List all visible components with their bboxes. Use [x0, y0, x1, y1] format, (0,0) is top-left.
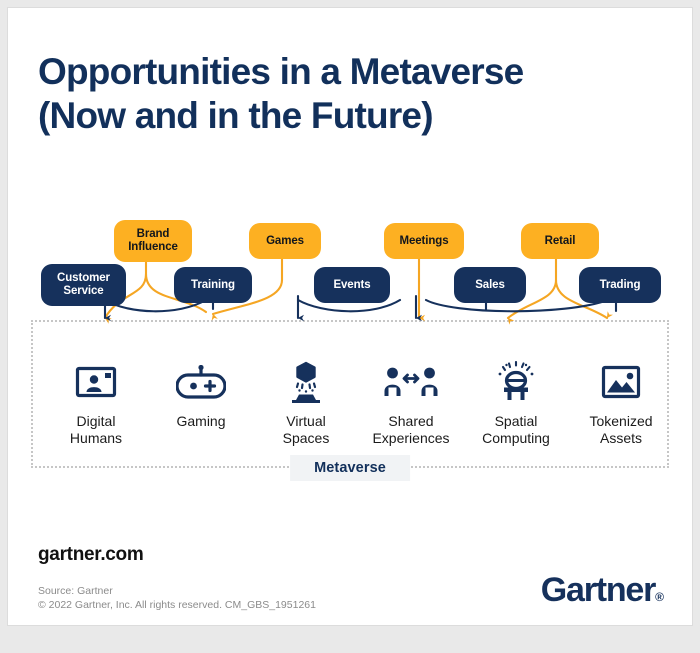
pill-customer-service-line2: Service	[63, 285, 103, 297]
pill-meetings[interactable]: Meetings	[384, 223, 464, 259]
pill-games-label: Games	[266, 235, 304, 248]
pill-meetings-label: Meetings	[399, 235, 448, 248]
pill-events-label: Events	[333, 279, 370, 292]
pillar-shared-experiences-line1: Shared	[388, 413, 433, 429]
pill-brand-influence-line2: Influence	[128, 241, 178, 253]
pill-sales-label: Sales	[475, 279, 505, 292]
pillar-gaming-line1: Gaming	[176, 413, 225, 429]
pill-customer-service-line1: Customer	[57, 272, 110, 284]
pill-sales[interactable]: Sales	[454, 267, 526, 303]
pillar-spatial-computing-line2: Computing	[482, 430, 550, 446]
pillar-spatial-computing-line1: Spatial	[495, 413, 538, 429]
pillar-digital-humans[interactable]: Digital Humans	[41, 360, 151, 447]
page-title: Opportunities in a Metaverse (Now and in…	[38, 50, 678, 138]
pill-customer-service[interactable]: Customer Service	[41, 264, 126, 306]
copyright-line: © 2022 Gartner, Inc. All rights reserved…	[38, 598, 316, 612]
pill-brand-influence-line1: Brand	[137, 228, 170, 240]
metaverse-label: Metaverse	[290, 455, 410, 481]
infographic-card: Opportunities in a Metaverse (Now and in…	[8, 8, 692, 625]
pillar-tokenized-assets-line1: Tokenized	[589, 413, 652, 429]
pillar-spatial-computing[interactable]: Spatial Computing	[461, 360, 571, 447]
pill-events[interactable]: Events	[314, 267, 390, 303]
pillar-virtual-spaces-line2: Spaces	[283, 430, 330, 446]
pillar-digital-humans-line2: Humans	[70, 430, 122, 446]
pill-games[interactable]: Games	[249, 223, 321, 259]
title-line-2: (Now and in the Future)	[38, 94, 678, 138]
pillar-gaming[interactable]: Gaming	[146, 360, 256, 430]
pillar-tokenized-assets-line2: Assets	[600, 430, 642, 446]
pill-training-label: Training	[191, 279, 235, 292]
pill-trading-label: Trading	[600, 279, 641, 292]
registered-trademark-icon: ®	[655, 590, 664, 604]
pillar-tokenized-assets[interactable]: Tokenized Assets	[566, 360, 676, 447]
source-attribution: Source: Gartner © 2022 Gartner, Inc. All…	[38, 584, 316, 612]
pillar-shared-experiences-line2: Experiences	[372, 430, 449, 446]
digital-humans-icon	[41, 360, 151, 404]
gartner-logo-text: Gartner	[541, 571, 655, 609]
gartner-site-link[interactable]: gartner.com	[38, 544, 143, 566]
pill-retail-label: Retail	[545, 235, 576, 248]
image-frame-icon	[566, 360, 676, 404]
pill-training[interactable]: Training	[174, 267, 252, 303]
title-line-1: Opportunities in a Metaverse	[38, 50, 678, 94]
pill-brand-influence[interactable]: Brand Influence	[114, 220, 192, 262]
pillar-shared-experiences[interactable]: Shared Experiences	[356, 360, 466, 447]
source-line: Source: Gartner	[38, 584, 316, 598]
gartner-logo: Gartner®	[541, 571, 664, 610]
pillar-virtual-spaces[interactable]: Virtual Spaces	[251, 360, 361, 447]
two-people-icon	[356, 360, 466, 404]
hologram-cube-icon	[251, 360, 361, 404]
spatial-headset-icon	[461, 360, 571, 404]
infographic-canvas: Opportunities in a Metaverse (Now and in…	[0, 0, 700, 653]
pillar-digital-humans-line1: Digital	[77, 413, 116, 429]
pillar-virtual-spaces-line1: Virtual	[286, 413, 325, 429]
pill-retail[interactable]: Retail	[521, 223, 599, 259]
gamepad-icon	[146, 360, 256, 404]
pill-trading[interactable]: Trading	[579, 267, 661, 303]
